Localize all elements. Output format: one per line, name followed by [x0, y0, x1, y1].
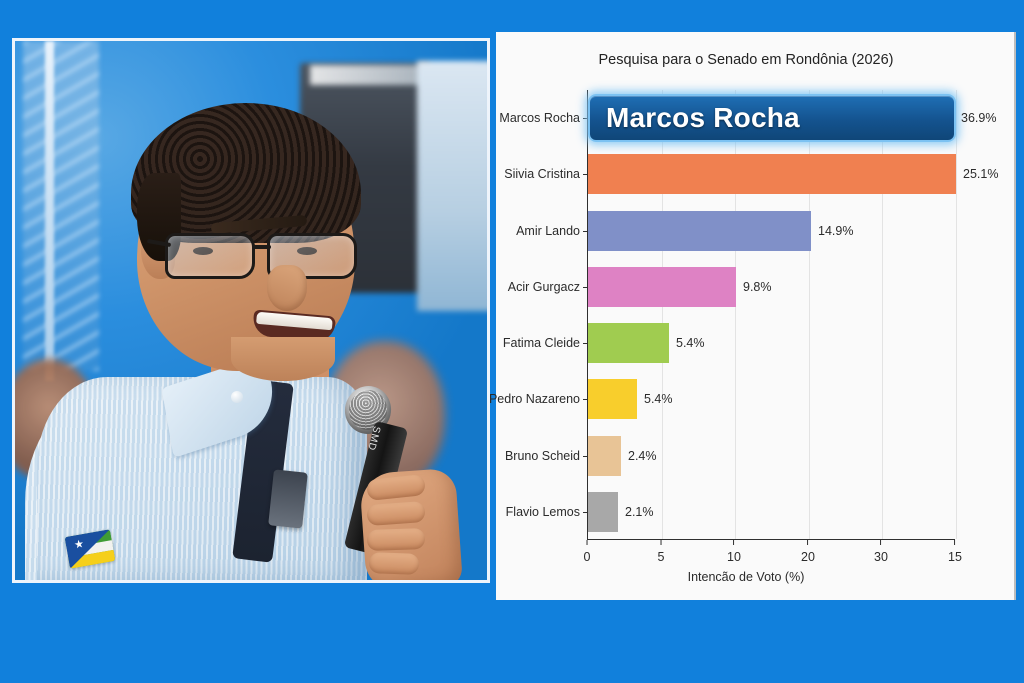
- chart-x-tick-label: 0: [584, 550, 591, 564]
- chart-x-tick-label: 5: [658, 550, 665, 564]
- chart-bar-row[interactable]: Siivia Cristina25.1%: [588, 146, 956, 202]
- chart-category-label: Flavio Lemos: [506, 505, 580, 519]
- chart-x-tick-mark: [660, 540, 661, 545]
- poll-chart-panel: Pesquisa para o Senado em Rondônia (2026…: [496, 32, 1016, 600]
- subject-collar-button: [231, 391, 243, 403]
- chart-highlight-label: Marcos Rocha: [606, 102, 800, 134]
- subject-badge-clip: [268, 469, 308, 528]
- chart-x-tick: 0: [584, 540, 591, 566]
- subject-nose: [267, 265, 307, 311]
- chart-x-tick-label: 30: [874, 550, 888, 564]
- chart-bar[interactable]: Marcos Rocha36.9%: [588, 94, 956, 142]
- chart-category-label: Bruno Scheid: [505, 449, 580, 463]
- photo-card: ★ SMD: [12, 38, 490, 583]
- chart-bar-row[interactable]: Pedro Nazareno5.4%: [588, 371, 637, 427]
- chart-bar-row[interactable]: Marcos RochaMarcos Rocha36.9%: [588, 90, 956, 146]
- flag-star-icon: ★: [73, 539, 85, 552]
- backdrop-board: [417, 61, 487, 311]
- subject-finger: [366, 501, 425, 526]
- chart-bar[interactable]: 9.8%: [588, 267, 736, 307]
- subject-finger: [369, 552, 420, 575]
- chart-bar-row[interactable]: Amir Lando14.9%: [588, 203, 811, 259]
- subject-teeth: [256, 312, 333, 331]
- chart-x-axis-label: Intencão de Voto (%): [496, 570, 996, 584]
- chart-bar-row[interactable]: Acir Gurgacz9.8%: [588, 259, 736, 315]
- chart-value-label: 36.9%: [961, 111, 996, 125]
- chart-bar[interactable]: 2.1%: [588, 492, 618, 532]
- chart-x-tick-label: 15: [948, 550, 962, 564]
- chart-value-label: 5.4%: [644, 392, 673, 406]
- eyeglass-lens-left: [165, 233, 255, 279]
- chart-category-label: Siivia Cristina: [504, 167, 580, 181]
- chart-plot-area: Marcos RochaMarcos Rocha36.9%Siivia Cris…: [587, 90, 955, 540]
- chart-bar[interactable]: 2.4%: [588, 436, 621, 476]
- chart-bar[interactable]: 5.4%: [588, 379, 637, 419]
- chart-x-tick: 15: [948, 540, 962, 566]
- chart-bar[interactable]: 5.4%: [588, 323, 669, 363]
- chart-bar-row[interactable]: Fatima Cleide5.4%: [588, 315, 669, 371]
- chart-x-tick-label: 20: [801, 550, 815, 564]
- chart-bar[interactable]: 14.9%: [588, 211, 811, 251]
- chart-value-label: 2.4%: [628, 449, 657, 463]
- chart-x-tick: 20: [801, 540, 815, 566]
- chart-x-tick-label: 10: [727, 550, 741, 564]
- chart-bar-row[interactable]: Bruno Scheid2.4%: [588, 428, 621, 484]
- subject-photo: ★ SMD: [15, 41, 487, 580]
- chart-bar-row[interactable]: Flavio Lemos2.1%: [588, 484, 618, 540]
- subject-chin: [231, 337, 335, 381]
- chart-category-label: Marcos Rocha: [499, 111, 580, 125]
- chart-value-label: 2.1%: [625, 505, 654, 519]
- chart-x-tick-mark: [808, 540, 809, 545]
- chart-x-tick-mark: [955, 540, 956, 545]
- eyeglass-bridge: [253, 245, 271, 249]
- backdrop-truss-pole: [45, 41, 54, 381]
- chart-gridline: [956, 90, 957, 539]
- chart-x-tick-mark: [734, 540, 735, 545]
- chart-category-label: Acir Gurgacz: [508, 280, 580, 294]
- chart-x-tick: 10: [727, 540, 741, 566]
- chart-category-label: Fatima Cleide: [503, 336, 580, 350]
- subject-finger: [367, 528, 426, 551]
- chart-bar[interactable]: 25.1%: [588, 154, 956, 194]
- chart-x-tick: 30: [874, 540, 888, 566]
- chart-category-label: Pedro Nazareno: [489, 392, 580, 406]
- chart-value-label: 9.8%: [743, 280, 772, 294]
- chart-title: Pesquisa para o Senado em Rondônia (2026…: [496, 52, 996, 68]
- chart-value-label: 14.9%: [818, 224, 853, 238]
- chart-category-label: Amir Lando: [516, 224, 580, 238]
- chart-value-label: 5.4%: [676, 336, 705, 350]
- chart-value-label: 25.1%: [963, 167, 998, 181]
- backdrop-truss: [23, 41, 99, 371]
- chart-x-tick-mark: [881, 540, 882, 545]
- chart-x-tick: 5: [658, 540, 665, 566]
- eyeglasses-icon: [163, 229, 363, 283]
- chart-x-tick-mark: [586, 540, 587, 545]
